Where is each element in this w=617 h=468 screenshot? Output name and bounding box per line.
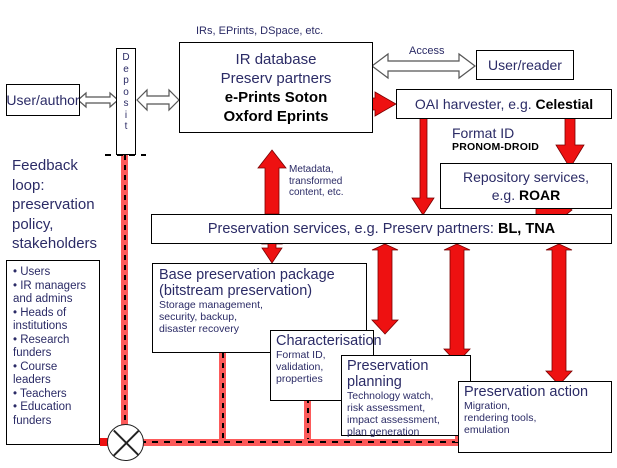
box-preservation-action[interactable]: Preservation action Migration, rendering… [458, 381, 612, 453]
box-preservation-action-detail2: rendering tools, [464, 412, 606, 424]
box-ir-database-line2: Preserv partners [221, 69, 332, 88]
format-id-note: Format ID PRONOM-DROID [452, 125, 539, 153]
list-item: • IR managers [13, 280, 95, 294]
feedback-loop-line4: policy, [12, 215, 97, 235]
list-item: funders [13, 415, 95, 429]
deposit-letter-5: i [125, 110, 127, 122]
arrow-services-action [546, 244, 572, 385]
list-item: • Users [13, 266, 95, 280]
feedback-dash-deposit-vertical [124, 155, 126, 428]
metadata-note-line2: transformed [289, 176, 343, 188]
box-deposit-label: D e p o s i t [116, 52, 136, 133]
metadata-note-line1: Metadata, [289, 164, 343, 176]
box-user-reader[interactable]: User/reader [476, 50, 574, 80]
box-user-author-label: User/author [6, 92, 79, 108]
feedback-dash-bottom-horizontal [140, 441, 458, 443]
list-item: institutions [13, 320, 95, 334]
arrow-deposit-ir-database [137, 90, 179, 110]
box-base-package-title1: Base preservation package [159, 267, 360, 283]
box-repository-services-prefix: e.g. [492, 187, 519, 203]
box-preservation-planning-detail3: impact assessment, [347, 414, 465, 426]
box-preservation-action-detail1: Migration, [464, 400, 606, 412]
box-preservation-planning-detail1: Technology watch, [347, 390, 465, 402]
box-repository-services-line1: Repository services, [463, 168, 589, 186]
box-user-reader-label: User/reader [488, 57, 562, 73]
diagram-canvas: IRs, EPrints, DSpace, etc. Access Metada… [0, 0, 617, 468]
box-base-package-detail2: security, backup, [159, 311, 360, 323]
list-item: • Heads of [13, 307, 95, 321]
format-id-title: Format ID [452, 125, 539, 141]
format-id-subtitle: PRONOM-DROID [452, 141, 539, 153]
feedback-loop-label: Feedback loop: preservation policy, stak… [12, 156, 97, 254]
arrow-oai-to-repository-services [556, 118, 584, 168]
box-ir-database-line4: Oxford Eprints [223, 107, 328, 126]
box-oai-harvester[interactable]: OAI harvester, e.g. Celestial [396, 89, 612, 119]
box-oai-harvester-prefix: OAI harvester, e.g. [415, 96, 536, 112]
deposit-letter-1: e [123, 64, 129, 76]
box-ir-database-line1: IR database [236, 50, 317, 69]
deposit-letter-4: s [124, 98, 129, 110]
box-preservation-services[interactable]: Preservation services, e.g. Preserv part… [151, 214, 612, 244]
arrow-services-characterisation [372, 244, 398, 334]
feedback-loop-line1: Feedback [12, 156, 97, 176]
box-stakeholders-list[interactable]: • Users • IR managers and admins • Heads… [6, 260, 100, 445]
arrow-user-author-deposit [78, 93, 118, 107]
metadata-note: Metadata, transformed content, etc. [289, 164, 343, 199]
list-item: leaders [13, 374, 95, 388]
box-oai-harvester-strong: Celestial [536, 96, 594, 112]
access-label: Access [409, 46, 444, 58]
deposit-letter-0: D [122, 52, 129, 64]
list-item: funders [13, 347, 95, 361]
list-item: • Research [13, 334, 95, 348]
box-user-author[interactable]: User/author [6, 84, 80, 116]
irs-note-label: IRs, EPrints, DSpace, etc. [196, 26, 323, 38]
feedback-loop-line3: preservation [12, 195, 97, 215]
box-preservation-action-title: Preservation action [464, 384, 606, 400]
box-base-package-title2: (bitstream preservation) [159, 283, 360, 299]
box-repository-services[interactable]: Repository services, e.g. ROAR [440, 163, 612, 209]
box-preservation-services-strong: BL, TNA [498, 221, 555, 237]
box-repository-services-strong: ROAR [519, 187, 560, 203]
deposit-letter-6: t [125, 121, 128, 133]
arrow-services-planning [444, 244, 470, 363]
feedback-loop-line5: stakeholders [12, 234, 97, 254]
box-preservation-planning[interactable]: Preservation planning Technology watch, … [341, 355, 471, 436]
box-ir-database[interactable]: IR database Preserv partners e-Prints So… [179, 42, 373, 133]
feedback-junction-node [107, 424, 144, 461]
box-preservation-action-detail3: emulation [464, 424, 606, 436]
deposit-letter-2: p [123, 75, 129, 87]
list-item: • Teachers [13, 388, 95, 402]
arrow-metadata-up [258, 150, 286, 214]
box-preservation-planning-detail4: plan generation [347, 426, 465, 438]
metadata-note-line3: content, etc. [289, 187, 343, 199]
arrow-oai-to-preservation-services [412, 118, 434, 215]
list-item: • Course [13, 361, 95, 375]
box-ir-database-line3: e-Prints Soton [225, 88, 328, 107]
box-characterisation-title: Characterisation [276, 333, 368, 349]
box-preservation-services-prefix: Preservation services, e.g. Preserv part… [208, 221, 498, 237]
list-item: and admins [13, 293, 95, 307]
list-item: • Education [13, 401, 95, 415]
arrow-access [372, 54, 475, 78]
deposit-letter-3: o [123, 87, 129, 99]
box-preservation-planning-detail2: risk assessment, [347, 402, 465, 414]
feedback-dash-base-package-riser [222, 353, 224, 439]
feedback-loop-line2: loop: [12, 176, 97, 196]
box-preservation-planning-title: Preservation planning [347, 358, 465, 390]
box-base-package-detail1: Storage management, [159, 299, 360, 311]
